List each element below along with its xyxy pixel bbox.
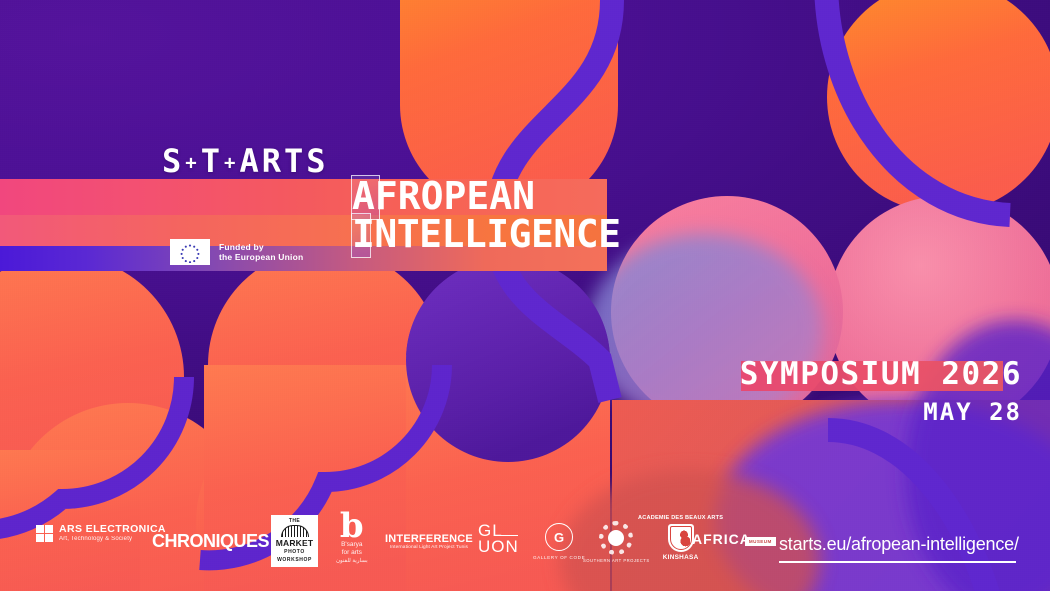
eu-funding-badge: Funded by the European Union [170,239,303,265]
logo-academie-city: KINSHASA [663,554,699,561]
logo-chroniques[interactable]: CHRONIQUES [152,531,269,552]
logo-chroniques-name: CHRONIQUES [152,531,269,552]
title-banner: AFROPEAN INTELLIGENCE [0,179,607,271]
gallery-of-code-mark-icon: G [545,523,573,551]
logo-bsarya-arabic: بسارية للفنون [336,557,368,566]
logo-gluon-line-1: GL [478,523,503,539]
starts-wordmark: S+T+ARTS [162,145,329,177]
logo-interference-name: INTERFERENCE [385,533,473,545]
logo-africa-museum-name: AFRICA [692,531,751,547]
ars-electronica-mark-icon [36,525,53,542]
logo-ars-electronica[interactable]: ARS ELECTRONICA Art, Technology & Societ… [36,523,166,544]
logo-market-name: MARKET [276,538,314,548]
symposium-date: MAY 28 [740,400,1022,424]
logo-gluon[interactable]: GL UON [478,523,519,555]
starts-letter-t: T [201,142,223,180]
eu-funding-line-2: the European Union [219,252,303,263]
logo-interference-tagline: International Light Art Project Tunis [390,545,468,550]
logo-ars-electronica-name: ARS ELECTRONICA [59,523,166,535]
website-url-underline [779,561,1016,563]
background-artwork [0,0,1050,591]
southern-art-projects-mark-icon [599,521,633,555]
eu-funding-line-1: Funded by [219,242,303,253]
starts-word-arts: ARTS [239,142,328,180]
starts-plus-1: + [185,152,199,174]
logo-bsarya-sub: for arts [342,549,362,557]
starts-letter-s: S [162,142,184,180]
eu-flag-icon [170,239,210,265]
website-url-block[interactable]: starts.eu/afropean-intelligence/ [779,534,1019,563]
logo-africa-museum[interactable]: AFRICA MUSEUM [692,531,776,547]
title-line-afropean: AFROPEAN [352,177,535,215]
logo-market-the: THE [289,518,300,524]
starts-plus-2: + [224,152,238,174]
logo-ars-electronica-tagline: Art, Technology & Society [59,535,166,544]
logo-africa-museum-tag: MUSEUM [745,537,776,546]
logo-market-sub-1: PHOTO [284,549,305,556]
logo-market-photo-workshop[interactable]: THE MARKET PHOTO WORKSHOP [271,515,318,567]
logo-gallery-of-code[interactable]: G GALLERY OF CODE [533,523,585,560]
title-line-intelligence: INTELLIGENCE [352,215,621,253]
logo-academie-top: ACADEMIE DES BEAUX ARTS [638,515,723,522]
eu-stars-icon [174,242,206,263]
bsarya-b-glyph-icon: b [340,511,364,541]
logo-bsarya-for-arts[interactable]: b B'sarya for arts بسارية للفنون [336,511,368,566]
market-arch-icon [281,525,309,537]
logo-bsarya-name: B'sarya [341,541,362,549]
logo-interference[interactable]: INTERFERENCE International Light Art Pro… [385,533,473,550]
eu-funding-text: Funded by the European Union [219,242,303,263]
logo-market-sub-2: WORKSHOP [277,557,312,564]
event-info-block: SYMPOSIUM 2026 MAY 28 [740,355,1022,424]
poster-canvas: S+T+ARTS AFROPEAN INTELLIGENCE [0,0,1050,591]
logo-gallery-of-code-name: GALLERY OF CODE [533,555,585,560]
logo-gluon-line-2: UON [478,539,519,555]
symposium-title: SYMPOSIUM 2026 [740,355,1022,394]
website-url-link[interactable]: starts.eu/afropean-intelligence/ [779,534,1019,555]
academie-crest-icon [668,524,694,552]
